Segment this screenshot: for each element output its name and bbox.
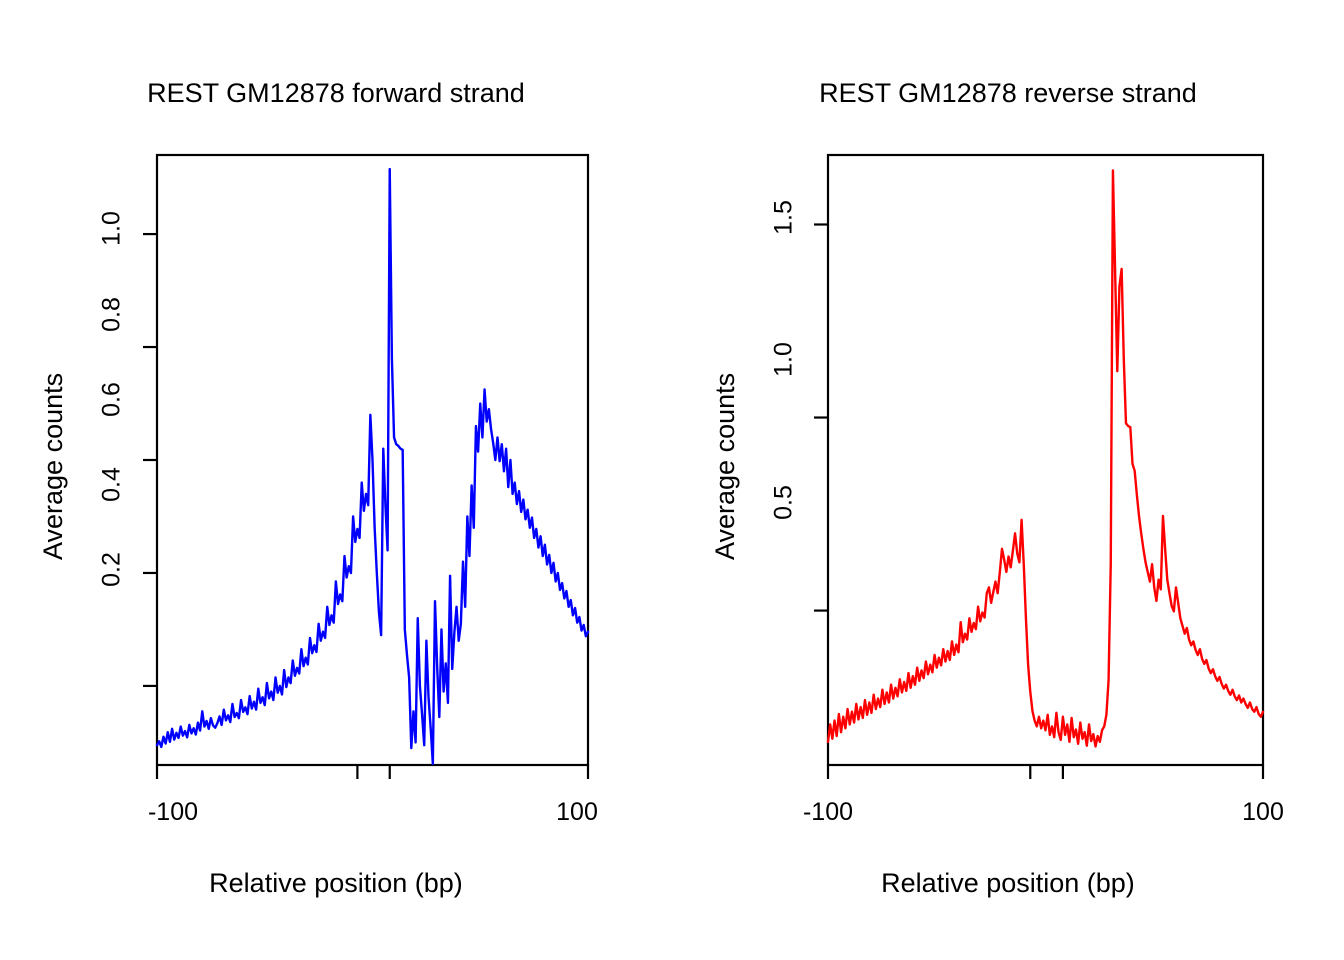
plot-canvas-reverse — [672, 0, 1344, 960]
plot-canvas-forward — [0, 0, 672, 960]
panel-forward-strand: REST GM12878 forward strand Average coun… — [0, 0, 672, 960]
data-line-forward — [157, 169, 588, 764]
data-line-reverse — [828, 170, 1263, 746]
figure-root: REST GM12878 forward strand Average coun… — [0, 0, 1344, 960]
panel-reverse-strand: REST GM12878 reverse strand Average coun… — [672, 0, 1344, 960]
plot-frame-reverse — [828, 155, 1263, 765]
